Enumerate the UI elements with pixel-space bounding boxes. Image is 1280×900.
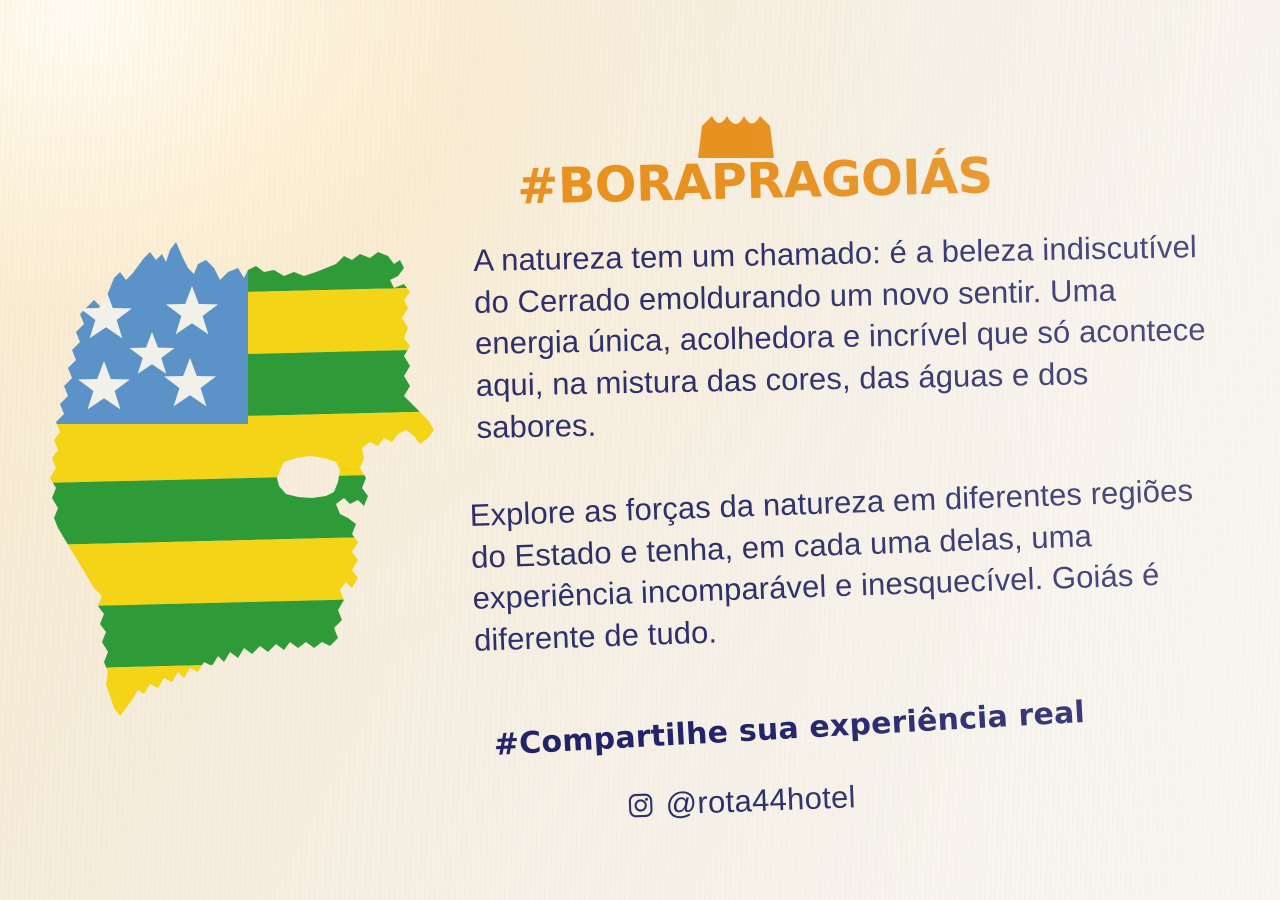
instagram-handle-row[interactable]: @rota44hotel (627, 779, 856, 824)
paragraph-two: Explore as forças da natureza em diferen… (469, 469, 1214, 661)
wall-text-panel: #BORAPRAGOIÁS A natureza tem um chamado:… (455, 100, 1245, 860)
page-title: #BORAPRAGOIÁS (454, 146, 1055, 217)
call-to-action-hashtag: #Compartilhe sua experiência real (493, 695, 1086, 763)
paragraph-one: A natureza tem um chamado: é a beleza in… (473, 226, 1217, 449)
instagram-handle: @rota44hotel (665, 779, 856, 822)
map-flag-fill (48, 238, 448, 728)
goias-state-map (48, 238, 448, 728)
instagram-icon (627, 792, 654, 819)
